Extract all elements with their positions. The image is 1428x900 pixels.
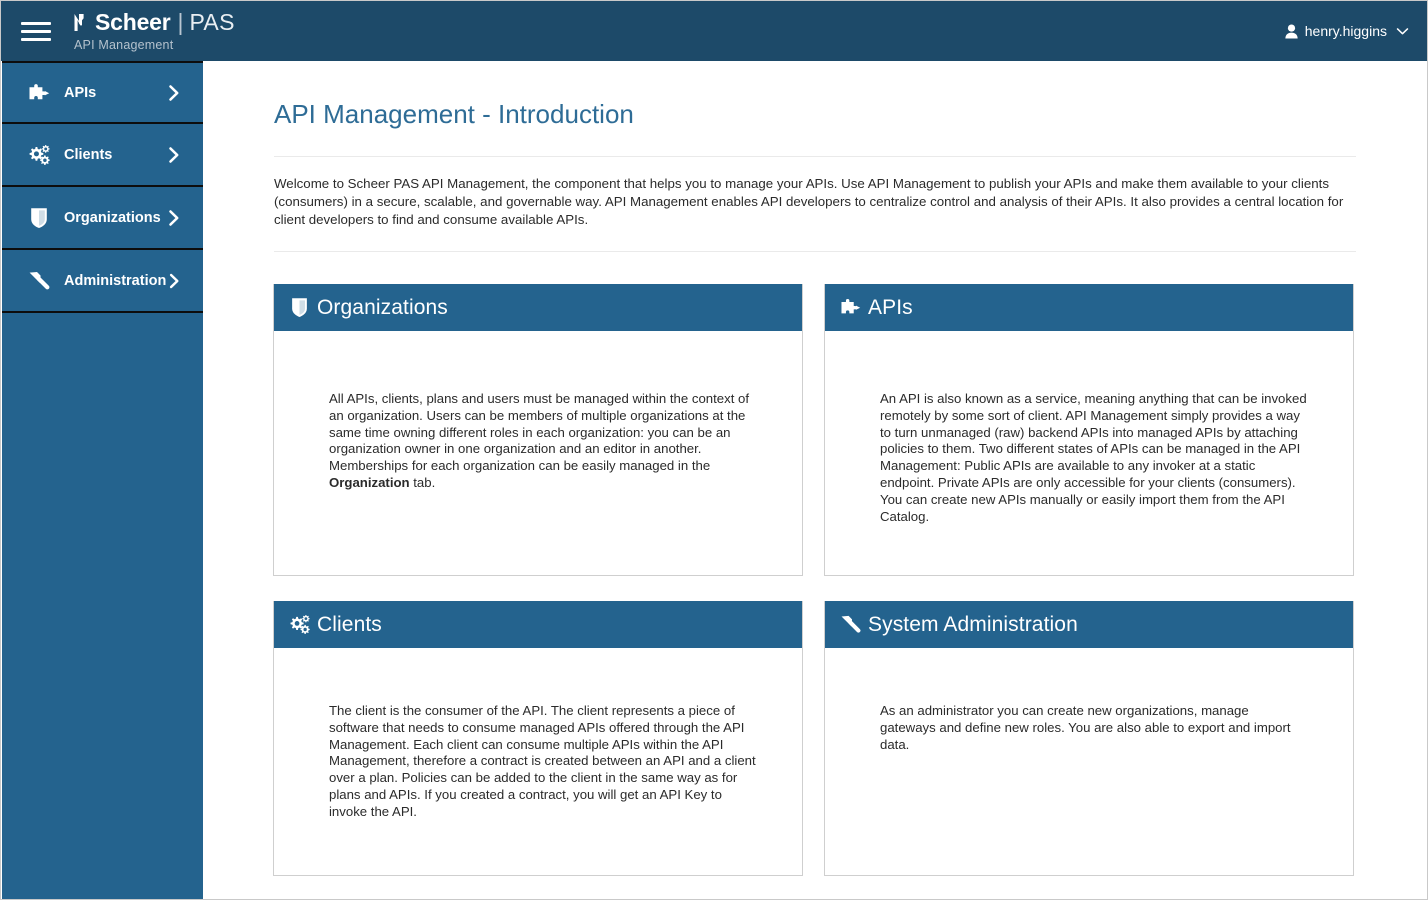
hamburger-bar bbox=[21, 22, 51, 25]
user-name: henry.higgins bbox=[1305, 23, 1387, 39]
page-title: API Management - Introduction bbox=[274, 99, 1427, 130]
card-title: APIs bbox=[868, 296, 913, 320]
card-text-part-2: tab. bbox=[410, 475, 436, 490]
card-system-administration: System Administration As an administrato… bbox=[824, 601, 1354, 876]
card-header: Organizations bbox=[274, 284, 802, 331]
cogs-icon bbox=[26, 143, 52, 167]
chevron-right-icon bbox=[165, 84, 183, 102]
sidebar-item-label: Clients bbox=[64, 147, 165, 163]
hamburger-bar bbox=[21, 30, 51, 33]
card-header: System Administration bbox=[825, 601, 1353, 648]
hamburger-bar bbox=[21, 38, 51, 41]
cogs-icon bbox=[287, 613, 311, 636]
user-icon bbox=[1285, 24, 1298, 39]
card-apis: APIs An API is also known as a service, … bbox=[824, 284, 1354, 576]
chevron-right-icon bbox=[165, 209, 183, 227]
puzzle-piece-icon bbox=[26, 81, 52, 105]
brand-logo[interactable]: Scheer | PAS API Management bbox=[74, 11, 235, 52]
intro-paragraph: Welcome to Scheer PAS API Management, th… bbox=[274, 175, 1356, 229]
info-card-grid: Organizations All APIs, clients, plans a… bbox=[273, 284, 1354, 876]
sidebar: APIs Clients bbox=[2, 61, 203, 899]
sidebar-item-label: APIs bbox=[64, 85, 165, 101]
chevron-down-icon[interactable] bbox=[1396, 27, 1409, 36]
main-content: API Management - Introduction Welcome to… bbox=[203, 61, 1427, 899]
card-organizations: Organizations All APIs, clients, plans a… bbox=[273, 284, 803, 576]
chevron-right-icon bbox=[166, 272, 183, 290]
hamburger-icon[interactable] bbox=[21, 22, 67, 41]
card-header: Clients bbox=[274, 601, 802, 648]
gavel-icon bbox=[838, 613, 862, 636]
puzzle-piece-icon bbox=[838, 296, 862, 319]
chevron-right-icon bbox=[165, 146, 183, 164]
sidebar-item-organizations[interactable]: Organizations bbox=[2, 187, 203, 250]
card-body: All APIs, clients, plans and users must … bbox=[274, 331, 802, 532]
sidebar-item-label: Organizations bbox=[64, 210, 165, 226]
sidebar-item-apis[interactable]: APIs bbox=[2, 61, 203, 124]
sidebar-item-label: Administration bbox=[64, 273, 166, 289]
card-title: System Administration bbox=[868, 613, 1078, 637]
card-body: The client is the consumer of the API. T… bbox=[274, 648, 802, 861]
gavel-icon bbox=[26, 269, 52, 293]
brand-subtitle: API Management bbox=[74, 39, 235, 52]
card-body: An API is also known as a service, meani… bbox=[825, 331, 1353, 565]
card-clients: Clients The client is the consumer of th… bbox=[273, 601, 803, 876]
card-title: Organizations bbox=[317, 296, 448, 320]
shield-icon bbox=[26, 206, 52, 230]
sidebar-item-administration[interactable]: Administration bbox=[2, 250, 203, 313]
card-text-part-1: All APIs, clients, plans and users must … bbox=[329, 391, 749, 473]
scheer-logo-mark-icon bbox=[74, 13, 91, 32]
brand-separator: | bbox=[178, 11, 184, 34]
app-window: Scheer | PAS API Management henry.higgin… bbox=[0, 0, 1428, 900]
user-menu[interactable]: henry.higgins bbox=[1285, 1, 1409, 61]
card-body: As an administrator you can create new o… bbox=[825, 648, 1353, 793]
title-divider bbox=[274, 156, 1356, 157]
card-title: Clients bbox=[317, 613, 382, 637]
shield-icon bbox=[287, 296, 311, 319]
sidebar-item-clients[interactable]: Clients bbox=[2, 124, 203, 187]
brand-row: Scheer | PAS bbox=[74, 11, 235, 34]
card-text-bold: Organization bbox=[329, 475, 410, 490]
brand-name: Scheer bbox=[95, 11, 171, 34]
brand-suite: PAS bbox=[190, 11, 235, 34]
top-bar: Scheer | PAS API Management henry.higgin… bbox=[1, 1, 1427, 61]
card-header: APIs bbox=[825, 284, 1353, 331]
intro-divider bbox=[274, 251, 1356, 252]
